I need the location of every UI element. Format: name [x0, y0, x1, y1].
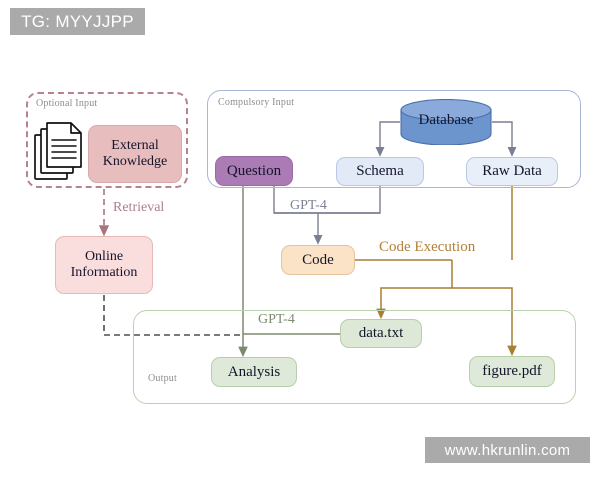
- edge-execbus-split: [381, 260, 452, 314]
- node-data-txt[interactable]: data.txt: [340, 319, 422, 348]
- group-output-label: Output: [148, 373, 177, 384]
- node-code[interactable]: Code: [281, 245, 355, 275]
- tg-badge: TG: MYYJJPP: [10, 8, 145, 35]
- group-compulsory-input-label: Compulsory Input: [218, 97, 294, 108]
- watermark-badge: www.hkrunlin.com: [425, 437, 590, 463]
- node-schema[interactable]: Schema: [336, 157, 424, 186]
- edge-label-code-execution: Code Execution: [379, 239, 475, 256]
- edge-question-to-gpt4bus: [274, 186, 281, 213]
- node-database-label: Database: [400, 112, 492, 129]
- node-external-knowledge[interactable]: External Knowledge: [88, 125, 182, 183]
- node-online-information[interactable]: Online Information: [55, 236, 153, 294]
- node-figure-pdf[interactable]: figure.pdf: [469, 356, 555, 387]
- diagram-canvas: Optional Input Compulsory Input Output E…: [0, 0, 600, 480]
- node-analysis[interactable]: Analysis: [211, 357, 297, 387]
- group-optional-input-label: Optional Input: [36, 98, 97, 109]
- node-raw-data[interactable]: Raw Data: [466, 157, 558, 186]
- documents-stack-icon: [33, 121, 89, 185]
- edge-label-gpt4-code: GPT-4: [290, 198, 327, 214]
- node-question[interactable]: Question: [215, 156, 293, 186]
- edge-label-gpt4-analysis: GPT-4: [258, 312, 295, 328]
- edge-label-retrieval: Retrieval: [113, 200, 164, 216]
- node-database[interactable]: Database: [400, 99, 492, 145]
